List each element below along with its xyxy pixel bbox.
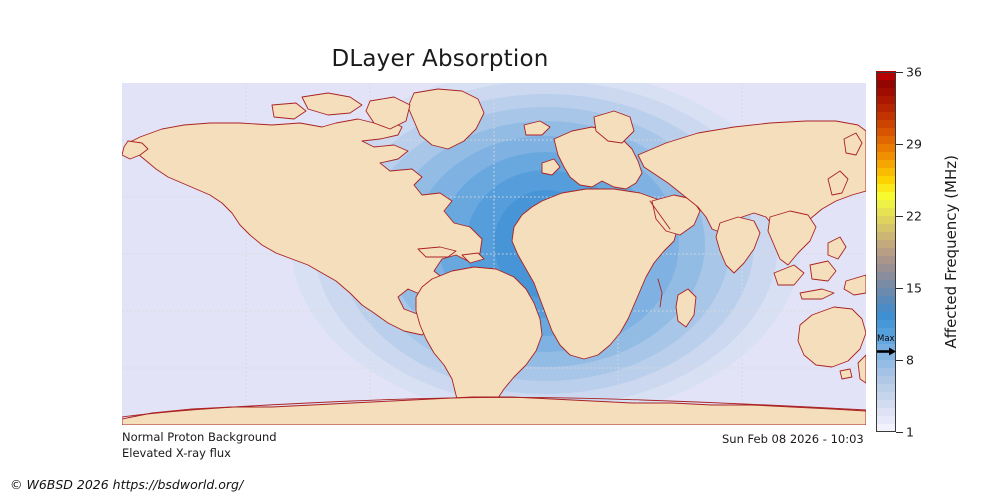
annotation-timestamp: Sun Feb 08 2026 - 10:03: [722, 432, 864, 446]
colorbar-segment: [876, 423, 896, 432]
colorbar-tick-label: 8: [906, 353, 914, 368]
annotation-proton-background: Normal Proton Background: [122, 430, 277, 444]
colorbar-segment: [876, 295, 896, 304]
colorbar-tick: [896, 144, 903, 145]
colorbar-segment: [876, 391, 896, 400]
colorbar-segment: [876, 135, 896, 144]
colorbar-tick: [896, 72, 903, 73]
colorbar-segment: [876, 71, 896, 80]
colorbar-segment: [876, 327, 896, 336]
colorbar-segment: [876, 231, 896, 240]
colorbar-segment: [876, 383, 896, 392]
colorbar-segment: [876, 287, 896, 296]
dlayer-absorption-plot: DLayer Absorption: [0, 0, 1000, 500]
colorbar-segment: [876, 143, 896, 152]
colorbar-segment: [876, 95, 896, 104]
colorbar-tick: [896, 288, 903, 289]
colorbar-segment: [876, 335, 896, 344]
colorbar-segment: [876, 87, 896, 96]
colorbar-segment: [876, 127, 896, 136]
colorbar-tick-label: 22: [906, 209, 922, 224]
colorbar-segment: [876, 159, 896, 168]
colorbar-segment: [876, 351, 896, 360]
colorbar-segment: [876, 263, 896, 272]
colorbar-segment: [876, 167, 896, 176]
colorbar-segment: [876, 103, 896, 112]
colorbar-tick-label: 29: [906, 137, 922, 152]
colorbar-segment: [876, 343, 896, 352]
world-map-axes: [122, 83, 866, 425]
colorbar-segment: [876, 359, 896, 368]
colorbar-segment: [876, 191, 896, 200]
colorbar-tick-label: 36: [906, 65, 922, 80]
land-tasmania: [840, 369, 852, 379]
colorbar-segment: [876, 79, 896, 88]
page-title: DLayer Absorption: [0, 46, 880, 72]
annotation-xray-flux: Elevated X-ray flux: [122, 446, 231, 460]
colorbar-segment: [876, 151, 896, 160]
colorbar-segment: [876, 303, 896, 312]
colorbar-tick-label: 1: [906, 425, 914, 440]
colorbar-segment: [876, 215, 896, 224]
footer-credit: © W6BSD 2026 https://bsdworld.org/: [10, 477, 243, 492]
colorbar-segment: [876, 111, 896, 120]
map-canvas: [122, 83, 866, 425]
colorbar-axis-title-text: Affected Frequency (MHz): [942, 155, 960, 349]
colorbar-segment: [876, 207, 896, 216]
colorbar-segment: [876, 311, 896, 320]
colorbar-segment: [876, 239, 896, 248]
colorbar-tick: [896, 432, 903, 433]
colorbar-segment: [876, 183, 896, 192]
colorbar-segment: [876, 367, 896, 376]
colorbar-segment: [876, 271, 896, 280]
colorbar-tick-label: 15: [906, 281, 922, 296]
colorbar-segment: [876, 255, 896, 264]
colorbar-segment: [876, 399, 896, 408]
colorbar-segment: [876, 175, 896, 184]
colorbar-segment: [876, 375, 896, 384]
colorbar-segment: [876, 223, 896, 232]
colorbar-tick: [896, 360, 903, 361]
colorbar: 1815222936 Max: [876, 72, 896, 432]
colorbar-segment: [876, 319, 896, 328]
colorbar-tick: [896, 216, 903, 217]
colorbar-segment: [876, 247, 896, 256]
map-svg: [122, 83, 866, 425]
colorbar-gradient: [876, 72, 896, 432]
colorbar-segment: [876, 407, 896, 416]
colorbar-segment: [876, 119, 896, 128]
colorbar-segment: [876, 415, 896, 424]
colorbar-segment: [876, 199, 896, 208]
colorbar-axis-title: Affected Frequency (MHz): [940, 72, 962, 432]
colorbar-segment: [876, 279, 896, 288]
